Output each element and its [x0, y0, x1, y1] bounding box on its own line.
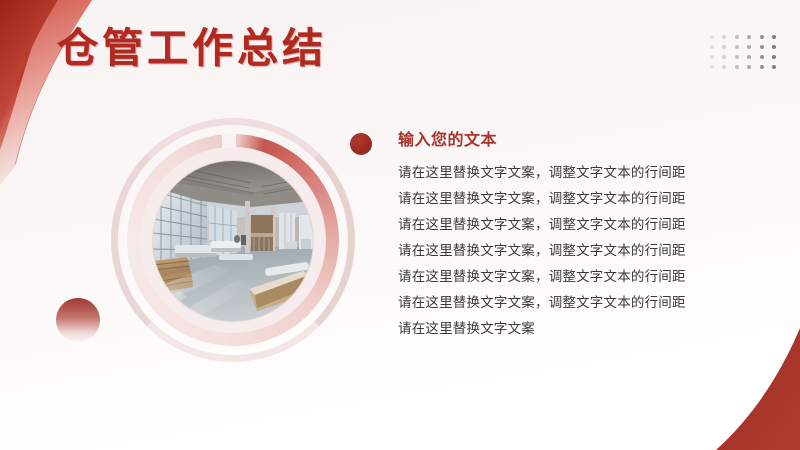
- content-lines: 请在这里替换文字文案，调整文字文本的行间距 请在这里替换文字文案，调整文字文本的…: [398, 160, 698, 342]
- arc-gap: [222, 134, 236, 148]
- content-line: 请在这里替换文字文案，调整文字文本的行间距: [398, 212, 698, 238]
- content-line: 请在这里替换文字文案，调整文字文本的行间距: [398, 264, 698, 290]
- text-content-block: 输入您的文本 请在这里替换文字文案，调整文字文本的行间距 请在这里替换文字文案，…: [398, 131, 698, 342]
- small-gradient-circle: [56, 298, 100, 342]
- content-line: 请在这里替换文字文案，调整文字文本的行间距: [398, 186, 698, 212]
- page-title: 仓管工作总结: [57, 25, 327, 72]
- content-heading: 输入您的文本: [398, 131, 698, 150]
- dot-grid: [710, 32, 776, 74]
- warehouse-photo: [153, 161, 313, 321]
- content-line: 请在这里替换文字文案，调整文字文本的行间距: [398, 290, 698, 316]
- red-corner-wedge-icon: [680, 320, 800, 450]
- content-line: 请在这里替换文字文案: [398, 316, 698, 342]
- presentation-slide: 仓管工作总结: [0, 0, 800, 450]
- content-line: 请在这里替换文字文案，调整文字文本的行间距: [398, 160, 698, 186]
- circular-image-composition: [103, 112, 363, 374]
- content-line: 请在这里替换文字文案，调整文字文本的行间距: [398, 238, 698, 264]
- bullet-dot-icon: [350, 133, 372, 155]
